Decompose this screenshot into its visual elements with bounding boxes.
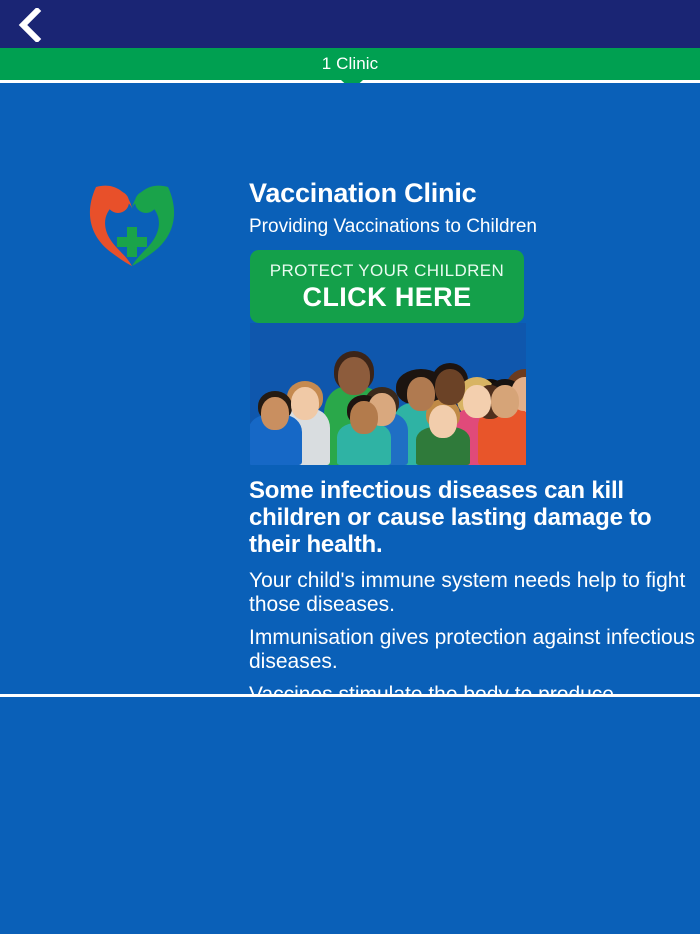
clinic-card[interactable]: Vaccination Clinic Providing Vaccination… [0,83,700,694]
clinic-headline: Some infectious diseases can kill childr… [249,477,697,558]
clinic-title: Vaccination Clinic [249,177,689,209]
tab-clinic-count[interactable]: 1 Clinic [0,48,700,80]
chevron-left-icon [17,8,43,42]
promo-banner-cta: CLICK HERE [302,282,471,312]
clinic-subtitle: Providing Vaccinations to Children [249,215,689,239]
clinic-paragraph: Your child's immune system needs help to… [249,569,697,617]
promo-banner-headline: PROTECT YOUR CHILDREN [270,261,504,281]
top-navigation-bar [0,0,700,48]
protect-your-children-banner[interactable]: PROTECT YOUR CHILDREN CLICK HERE [250,250,524,323]
children-group-photo [250,323,526,465]
tab-clinic-count-label: 1 Clinic [322,48,379,80]
back-button[interactable] [8,4,52,46]
empty-content-area [0,697,700,934]
clinic-paragraph: Immunisation gives protection against in… [249,626,697,674]
vaccination-clinic-logo-icon [86,179,178,267]
